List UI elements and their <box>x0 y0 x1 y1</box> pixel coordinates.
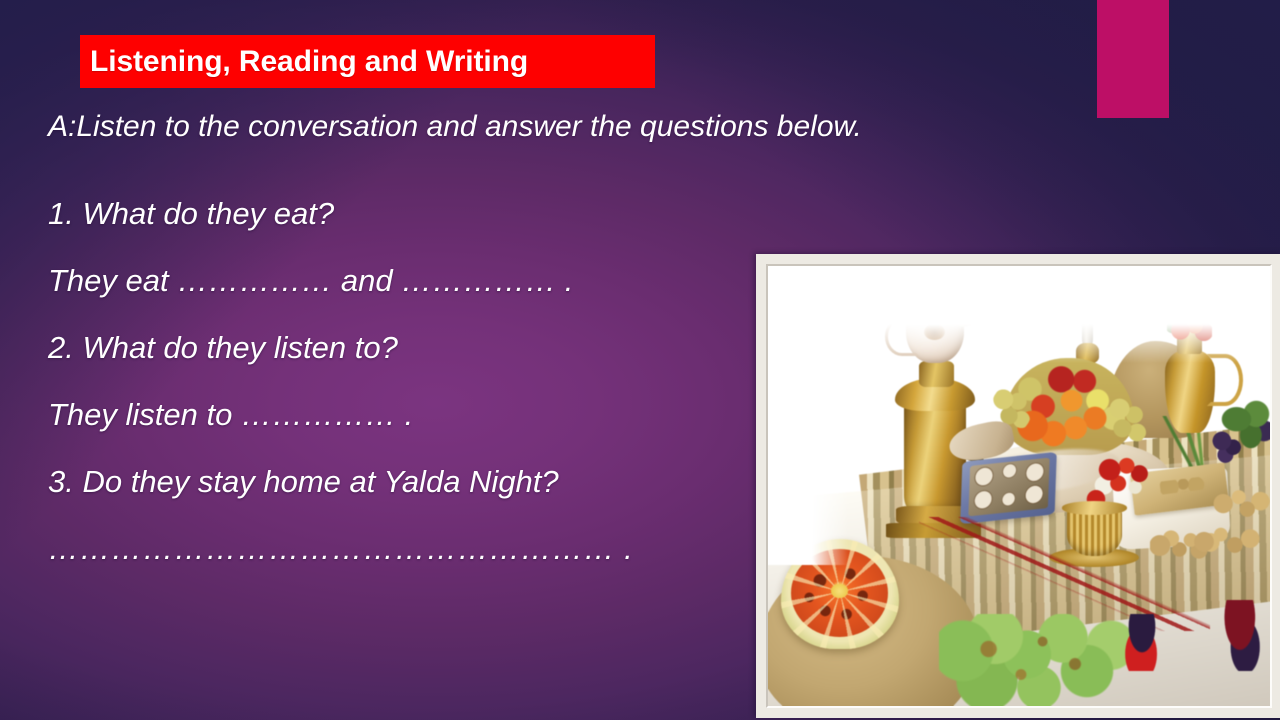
candle <box>1082 281 1094 345</box>
photo-frame <box>756 254 1280 718</box>
nuts-pile-upper-right <box>1210 486 1270 526</box>
accent-rectangle <box>1097 0 1169 118</box>
slide: Listening, Reading and Writing A:Listen … <box>0 0 1280 720</box>
teapot-decoration <box>924 324 945 340</box>
yalda-table-photo <box>768 266 1270 706</box>
red-ornament-right <box>1220 600 1265 670</box>
samovar-neck <box>919 361 954 387</box>
carved-watermelon <box>781 539 899 649</box>
red-ornament <box>1119 614 1164 671</box>
photo-frame-inner <box>766 264 1272 708</box>
dark-grapes <box>1210 429 1245 464</box>
leaf-spots <box>949 622 1130 697</box>
pitcher-flowers <box>1167 314 1212 340</box>
page-title: Listening, Reading and Writing <box>80 45 528 79</box>
teapot-knob <box>927 288 940 298</box>
teapot-handle <box>885 317 919 356</box>
watermelon-center <box>831 584 848 598</box>
teapot-spout <box>957 310 984 328</box>
gold-pitcher-handle <box>1207 354 1243 406</box>
spacer <box>48 142 1078 198</box>
gold-basket-rim <box>1062 501 1127 514</box>
question-1: 1. What do they eat? <box>48 198 1078 229</box>
title-band: Listening, Reading and Writing <box>80 35 655 88</box>
instruction-line: A:Listen to the conversation and answer … <box>48 112 1078 142</box>
tea-glasses <box>968 458 1050 517</box>
